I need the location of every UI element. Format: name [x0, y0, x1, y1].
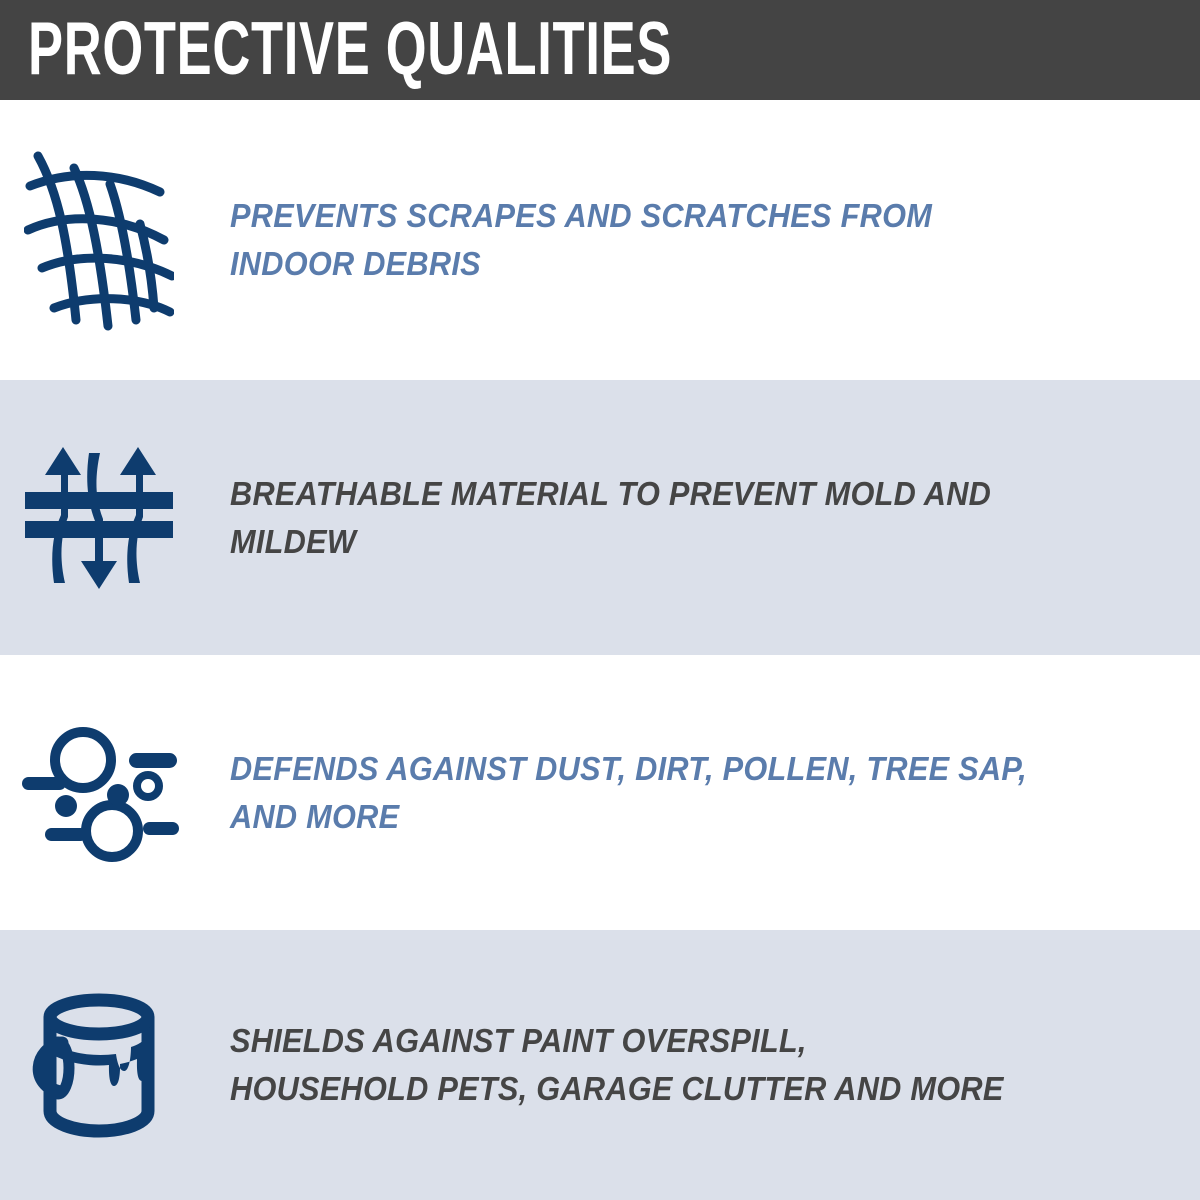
feature-row: PREVENTS SCRAPES AND SCRATCHES FROM INDO… [0, 100, 1200, 380]
icon-cell [0, 930, 198, 1200]
text-cell: PREVENTS SCRAPES AND SCRATCHES FROM INDO… [198, 192, 1200, 288]
protective-qualities-infographic: PROTECTIVE QUALITIES [0, 0, 1200, 1200]
text-cell: DEFENDS AGAINST DUST, DIRT, POLLEN, TREE… [198, 745, 1200, 841]
feature-row: DEFENDS AGAINST DUST, DIRT, POLLEN, TREE… [0, 655, 1200, 930]
feature-row: BREATHABLE MATERIAL TO PREVENT MOLD AND … [0, 380, 1200, 655]
header-bar: PROTECTIVE QUALITIES [0, 0, 1200, 100]
icon-cell [0, 100, 198, 380]
paint-can-icon [20, 991, 178, 1139]
feature-text: BREATHABLE MATERIAL TO PREVENT MOLD AND … [230, 470, 1076, 566]
dust-particles-icon [19, 724, 179, 862]
icon-cell [0, 655, 198, 930]
feature-row: SHIELDS AGAINST PAINT OVERSPILL, HOUSEHO… [0, 930, 1200, 1200]
icon-cell [0, 380, 198, 655]
feature-text: PREVENTS SCRAPES AND SCRATCHES FROM INDO… [230, 192, 1076, 288]
feature-text: DEFENDS AGAINST DUST, DIRT, POLLEN, TREE… [230, 745, 1076, 841]
text-cell: SHIELDS AGAINST PAINT OVERSPILL, HOUSEHO… [198, 1017, 1200, 1113]
feature-rows: PREVENTS SCRAPES AND SCRATCHES FROM INDO… [0, 100, 1200, 1200]
feature-text: SHIELDS AGAINST PAINT OVERSPILL, HOUSEHO… [230, 1017, 1076, 1113]
woven-mesh-icon [24, 148, 174, 333]
page-title: PROTECTIVE QUALITIES [28, 11, 672, 86]
text-cell: BREATHABLE MATERIAL TO PREVENT MOLD AND … [198, 470, 1200, 566]
breathable-airflow-arrows-icon [23, 445, 175, 591]
